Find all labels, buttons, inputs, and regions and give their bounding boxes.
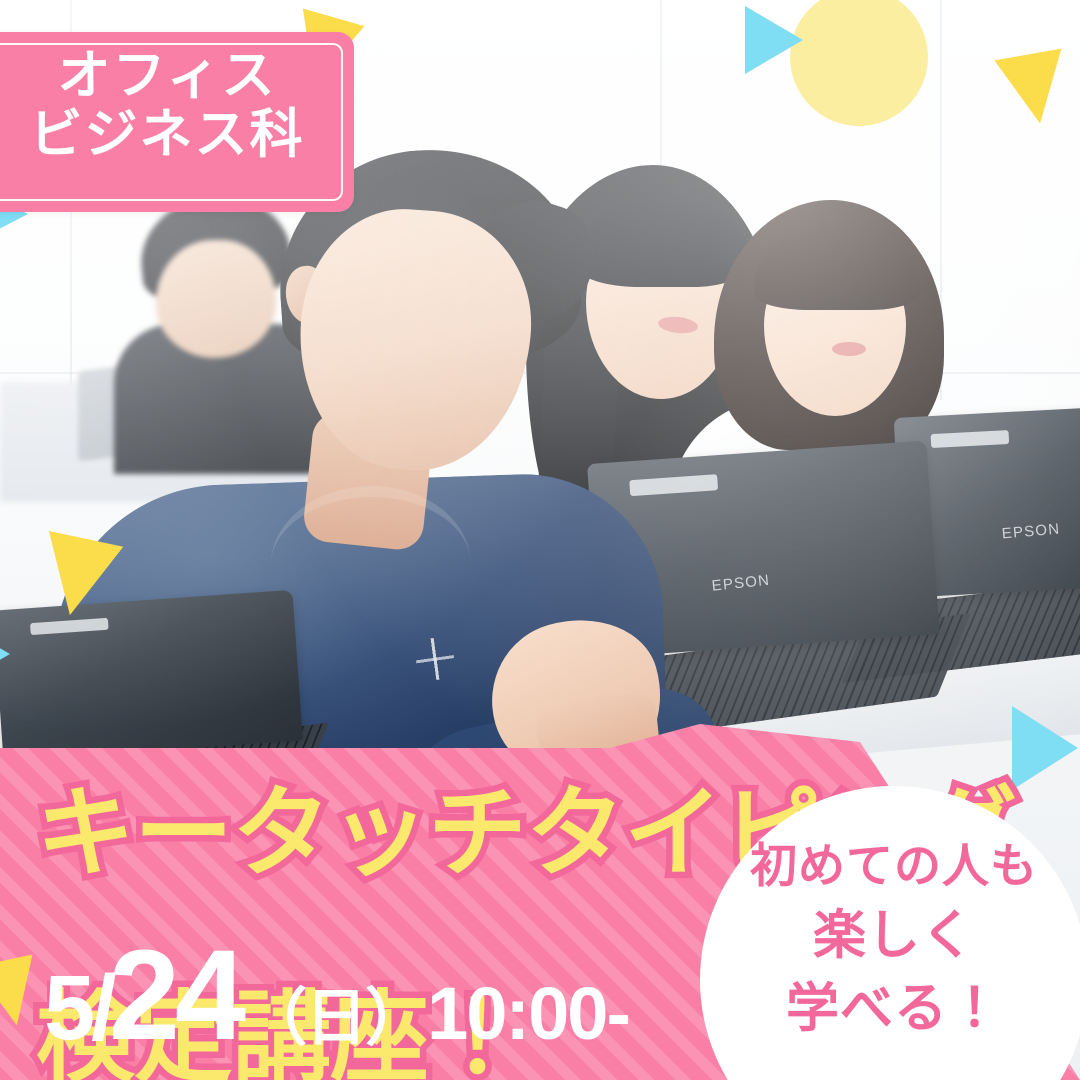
date-month: 5/ (44, 956, 113, 1061)
cyan-triangle-top-icon (745, 6, 803, 74)
note-line-1: 初めての人も (716, 836, 1072, 897)
poster-root: EPSON EPSON (0, 0, 1080, 1080)
date-day: 24 (109, 938, 241, 1053)
badge-text: オフィス ビジネス科 (0, 46, 336, 165)
laptop-brand-label: EPSON (711, 571, 771, 594)
badge-line-1: オフィス (58, 46, 277, 105)
yellow-triangle-top-right-icon (994, 49, 1073, 130)
cyan-triangle-left-middle-icon (0, 618, 10, 690)
note-line-2: 楽しく (716, 901, 1072, 970)
laptop-brand-label: EPSON (1001, 520, 1061, 542)
cyan-triangle-right-banner-icon (1012, 706, 1078, 790)
circle-note-text: 初めての人も 楽しく 学べる！ (716, 836, 1072, 1043)
badge-line-2: ビジネス科 (30, 105, 305, 164)
shirt-logo (413, 636, 456, 683)
event-date: 5/ 24 （日） 10:00- (44, 938, 629, 1061)
department-badge: オフィス ビジネス科 (0, 32, 354, 212)
date-weekday: （日） (245, 967, 425, 1057)
yellow-triangle-left-icon (33, 531, 124, 623)
note-line-3: 学べる！ (716, 974, 1072, 1043)
date-time: 10:00- (427, 971, 629, 1056)
